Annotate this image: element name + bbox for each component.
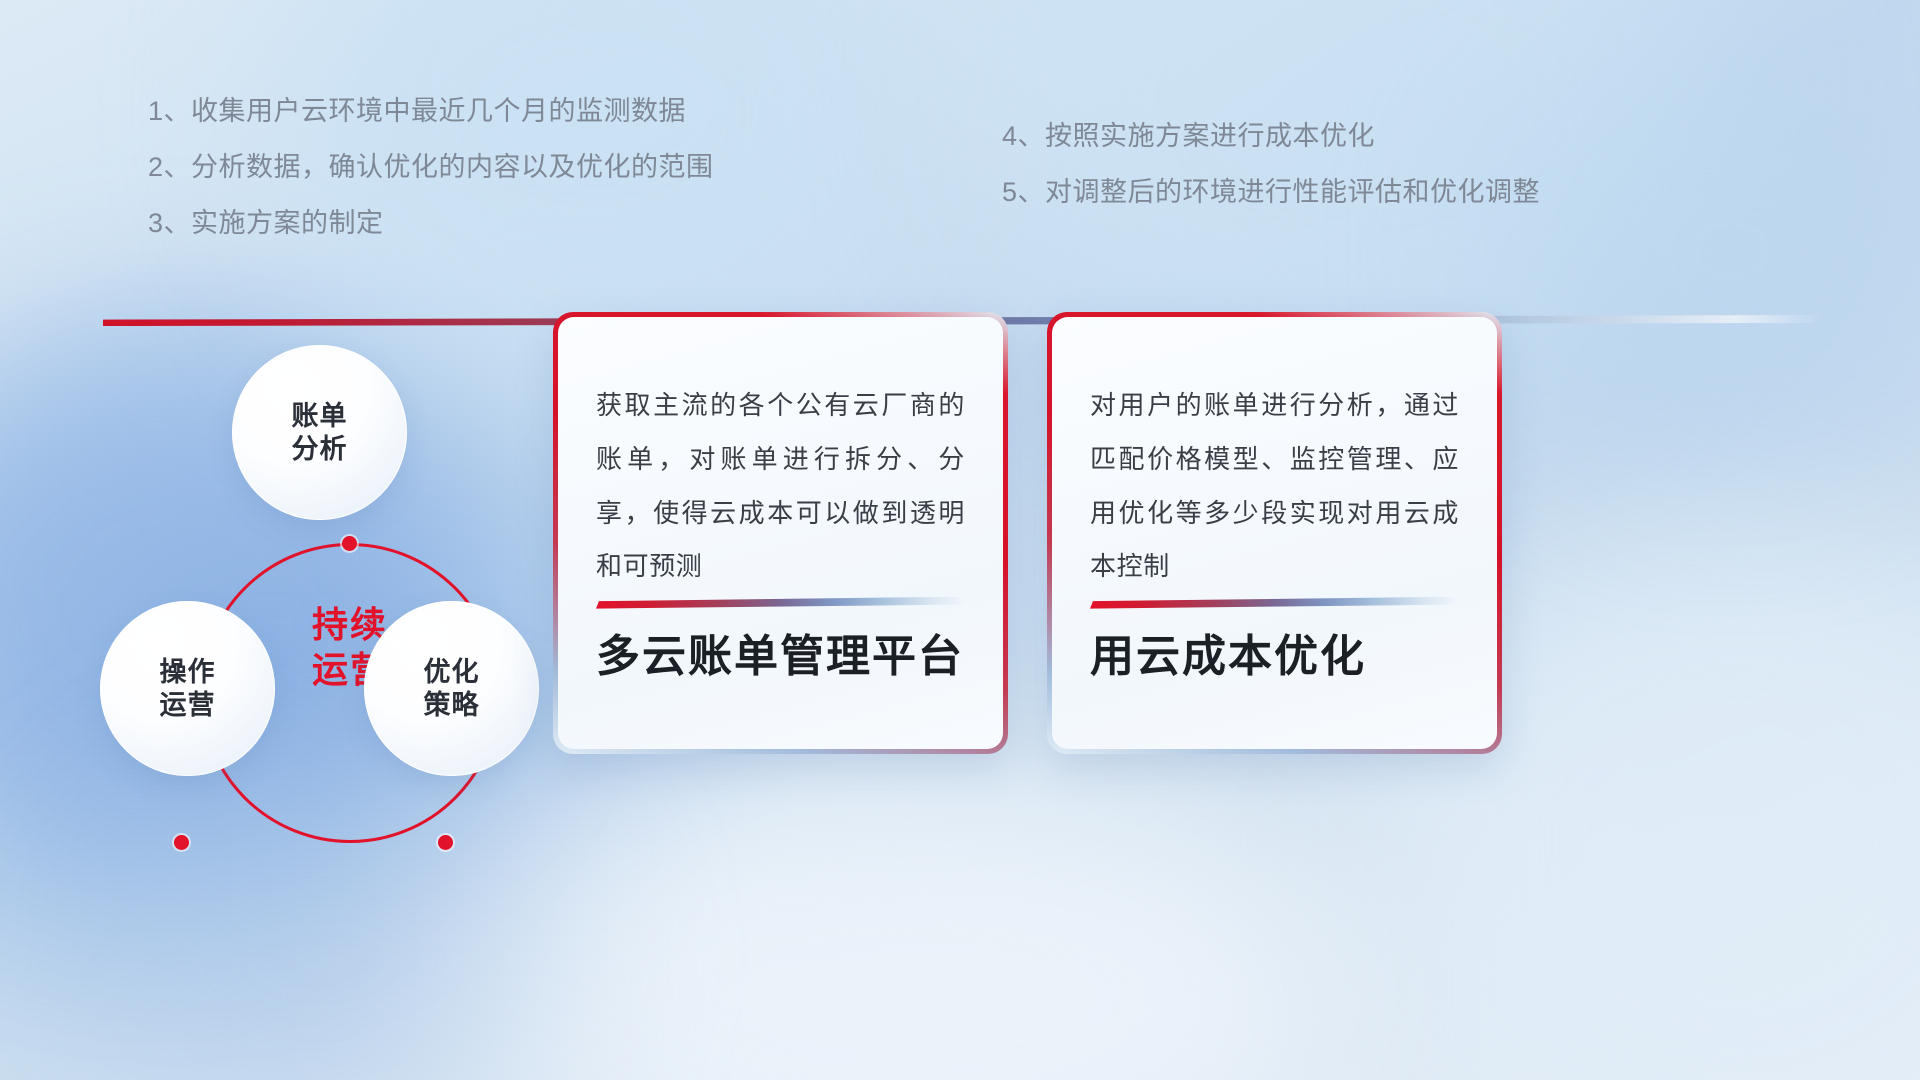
diagram-node-optimization-strategy[interactable]: 优化 策略 [364,601,539,776]
card-inner: 对用户的账单进行分析，通过匹配价格模型、监控管理、应用优化等多少段实现对用云成本… [1052,317,1497,749]
node-connector-dot-right [438,835,453,850]
card-title: 多云账单管理平台 [596,633,965,719]
step-item-4: 4、按照实施方案进行成本优化 [1002,123,1540,150]
step-item-1: 1、收集用户云环境中最近几个月的监测数据 [148,98,714,125]
slide-canvas: 1、收集用户云环境中最近几个月的监测数据 2、分析数据，确认优化的内容以及优化的… [0,0,1920,1080]
step-item-2: 2、分析数据，确认优化的内容以及优化的范围 [148,154,714,181]
card-cloud-cost-optimization[interactable]: 对用户的账单进行分析，通过匹配价格模型、监控管理、应用优化等多少段实现对用云成本… [1047,312,1502,754]
steps-list-left: 1、收集用户云环境中最近几个月的监测数据 2、分析数据，确认优化的内容以及优化的… [148,98,714,266]
background-blob [1500,40,1920,460]
card-divider-rule [596,597,965,609]
card-title: 用云成本优化 [1090,633,1459,719]
node-label-line-2: 分析 [292,433,348,466]
step-item-5: 5、对调整后的环境进行性能评估和优化调整 [1002,179,1540,206]
steps-list-right: 4、按照实施方案进行成本优化 5、对调整后的环境进行性能评估和优化调整 [1002,123,1540,235]
node-label-line-2: 运营 [160,689,216,722]
node-label-line-1: 账单 [292,400,348,433]
diagram-node-billing-analysis[interactable]: 账单 分析 [232,345,407,520]
node-label-line-1: 优化 [424,656,480,689]
card-divider-rule [1090,597,1459,609]
node-label-line-1: 操作 [160,656,216,689]
card-body-text: 对用户的账单进行分析，通过匹配价格模型、监控管理、应用优化等多少段实现对用云成本… [1090,379,1459,594]
card-multi-cloud-billing-platform[interactable]: 获取主流的各个公有云厂商的账单，对账单进行拆分、分享，使得云成本可以做到透明和可… [553,312,1008,754]
diagram-node-operations[interactable]: 操作 运营 [100,601,275,776]
node-label-line-2: 策略 [424,689,480,722]
card-inner: 获取主流的各个公有云厂商的账单，对账单进行拆分、分享，使得云成本可以做到透明和可… [558,317,1003,749]
node-connector-dot-top [342,536,357,551]
node-connector-dot-left [174,835,189,850]
step-item-3: 3、实施方案的制定 [148,210,714,237]
card-body-text: 获取主流的各个公有云厂商的账单，对账单进行拆分、分享，使得云成本可以做到透明和可… [596,379,965,594]
